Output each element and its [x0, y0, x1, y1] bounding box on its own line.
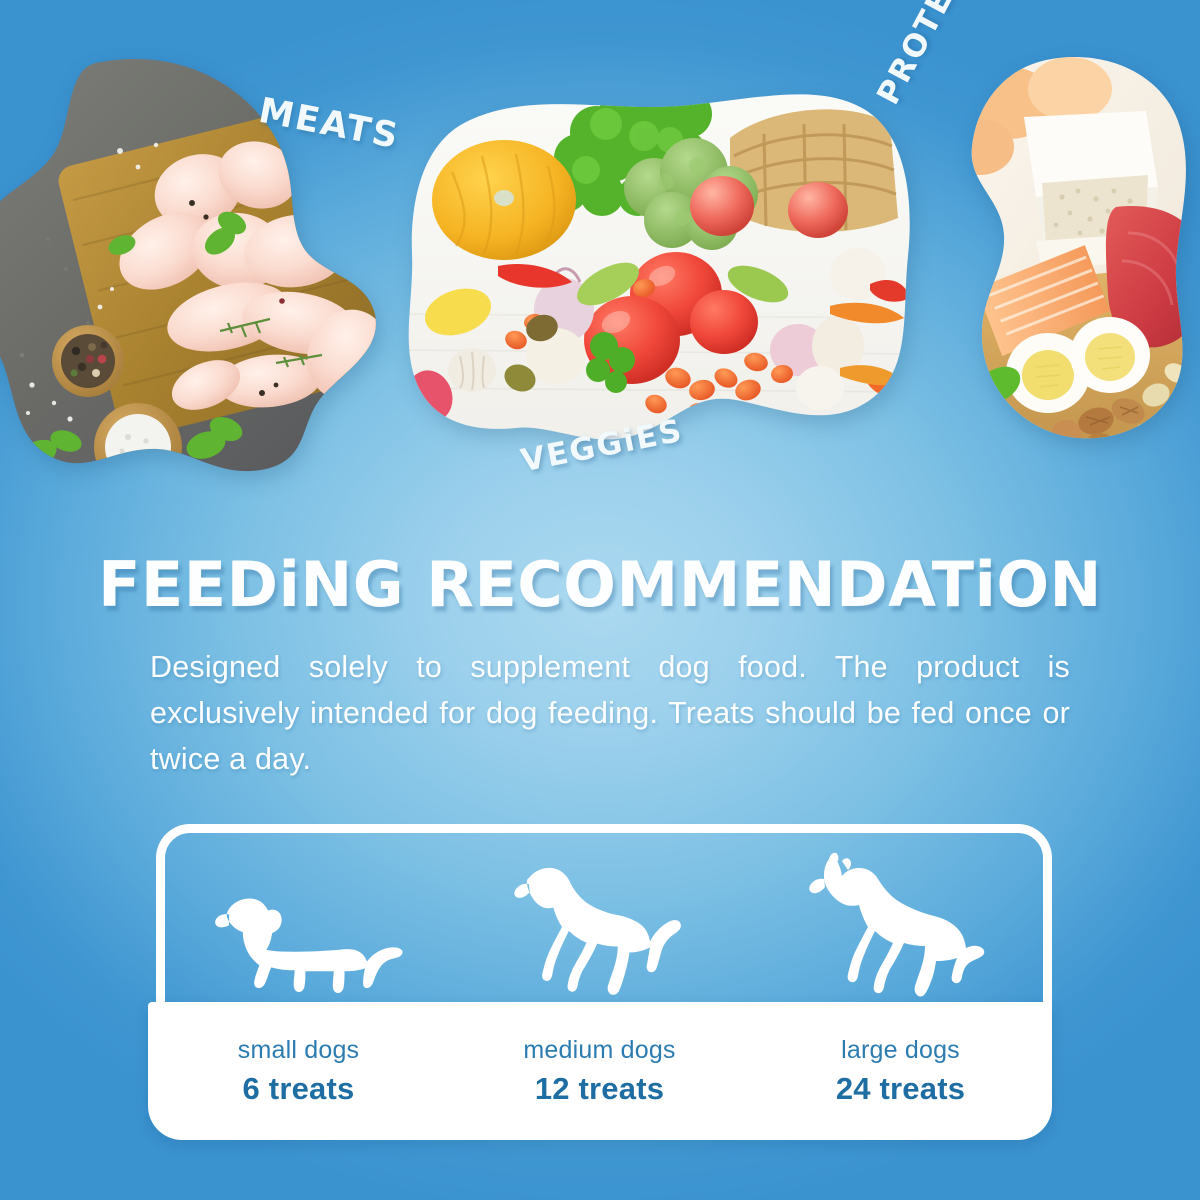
proteins-photo: [950, 55, 1200, 455]
feeding-recommendation-poster: MEATS VEGGiES PROTEiNS FEEDiNG RECOMMEND…: [0, 0, 1200, 1200]
feeding-column-large: large dogs 24 treats: [750, 1002, 1051, 1140]
feeding-column-medium: medium dogs 12 treats: [449, 1002, 750, 1140]
dog-size-label: small dogs: [238, 1036, 360, 1065]
food-category-images: MEATS VEGGiES PROTEiNS: [0, 0, 1200, 500]
dachshund-icon: [188, 879, 413, 1002]
dog-treat-count: 24 treats: [836, 1071, 965, 1107]
description-text: Designed solely to supplement dog food. …: [150, 644, 1070, 782]
feeding-column-small: small dogs 6 treats: [148, 1002, 449, 1140]
veggies-photo: [400, 78, 920, 458]
dog-size-label: large dogs: [841, 1036, 960, 1065]
dog-size-label: medium dogs: [523, 1036, 675, 1065]
dog-treat-count: 12 treats: [535, 1071, 664, 1107]
pointer-dog-icon: [478, 857, 693, 1002]
boxer-dog-icon: [776, 847, 1006, 1002]
feeding-table: small dogs 6 treats medium dogs 12 treat…: [148, 824, 1052, 1140]
dog-treat-count: 6 treats: [243, 1071, 355, 1107]
page-title: FEEDiNG RECOMMENDATiON: [0, 548, 1200, 621]
